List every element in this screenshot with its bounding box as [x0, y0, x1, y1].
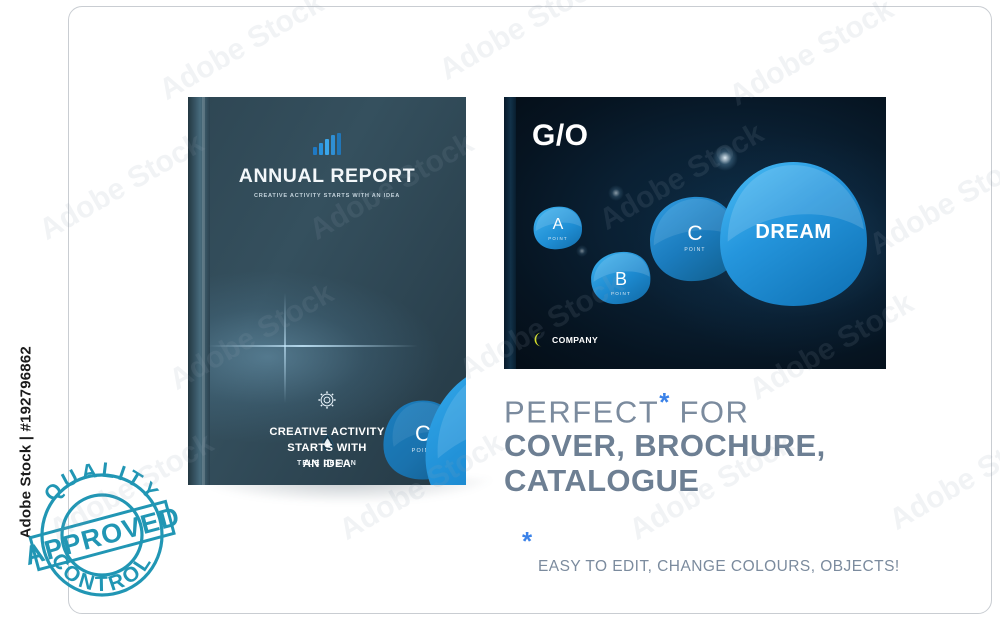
- badge-letter: B: [588, 270, 654, 288]
- promo-note: * EASY TO EDIT, CHANGE COLOURS, OBJECTS!: [504, 534, 974, 576]
- crescent-icon: [534, 332, 549, 347]
- promo-line-1: PERFECT* FOR: [504, 388, 974, 429]
- panel-brand: G/O: [532, 119, 589, 153]
- landscape-cover-panel: G/O A POINT: [504, 97, 886, 369]
- promo-line-3: CATALOGUE: [504, 464, 974, 499]
- badge-caption: POINT: [532, 236, 584, 241]
- stock-preview-canvas: Adobe Stock | #192796862 ANNUAL REPORT C…: [0, 0, 1000, 621]
- promo-note-text: EASY TO EDIT, CHANGE COLOURS, OBJECTS!: [538, 558, 900, 575]
- company-logo: COMPANY: [534, 332, 598, 347]
- hero-label: DREAM: [716, 221, 871, 244]
- annual-report-cover: ANNUAL REPORT CREATIVE ACTIVITY STARTS W…: [188, 97, 466, 485]
- cover-title: ANNUAL REPORT: [188, 165, 466, 188]
- stamp-banner: APPROVED: [21, 499, 184, 572]
- promo-line1-a: PERFECT: [504, 394, 659, 429]
- headline-line-3: AN IDEA: [188, 456, 466, 472]
- badge-a-point-panel: A POINT: [532, 205, 584, 251]
- promo-line1-b: FOR: [679, 394, 749, 429]
- headline-line-1: CREATIVE ACTIVITY: [188, 424, 466, 440]
- bar-chart-icon: [313, 133, 341, 155]
- panel-spine: [504, 97, 516, 369]
- promo-line-2: COVER, BROCHURE,: [504, 429, 974, 464]
- sparkle-icon: [608, 185, 624, 201]
- quality-control-approved-stamp: QUALITY CONTROL APPROVED: [26, 457, 178, 609]
- hero-dream-blob: DREAM: [716, 159, 871, 309]
- badge-b-point-panel: B POINT: [588, 250, 654, 306]
- asterisk-marker-note: *: [522, 534, 974, 550]
- light-streak-horizontal: [208, 345, 418, 347]
- company-name: COMPANY: [552, 335, 598, 345]
- cover-header: ANNUAL REPORT CREATIVE ACTIVITY STARTS W…: [188, 133, 466, 199]
- cover-headline-block: CREATIVE ACTIVITY STARTS WITH AN IDEA: [188, 389, 466, 473]
- asterisk-marker: *: [659, 387, 669, 417]
- stamp-top-text: QUALITY: [40, 459, 165, 507]
- gear-icon: [188, 389, 466, 416]
- badge-letter: A: [532, 217, 584, 233]
- badge-caption: POINT: [588, 291, 654, 296]
- promo-text-block: PERFECT* FOR COVER, BROCHURE, CATALOGUE …: [504, 388, 974, 576]
- headline-line-2: STARTS WITH: [188, 440, 466, 456]
- cover-subtitle: CREATIVE ACTIVITY STARTS WITH AN IDEA: [188, 193, 466, 199]
- light-streak-vertical: [284, 293, 286, 403]
